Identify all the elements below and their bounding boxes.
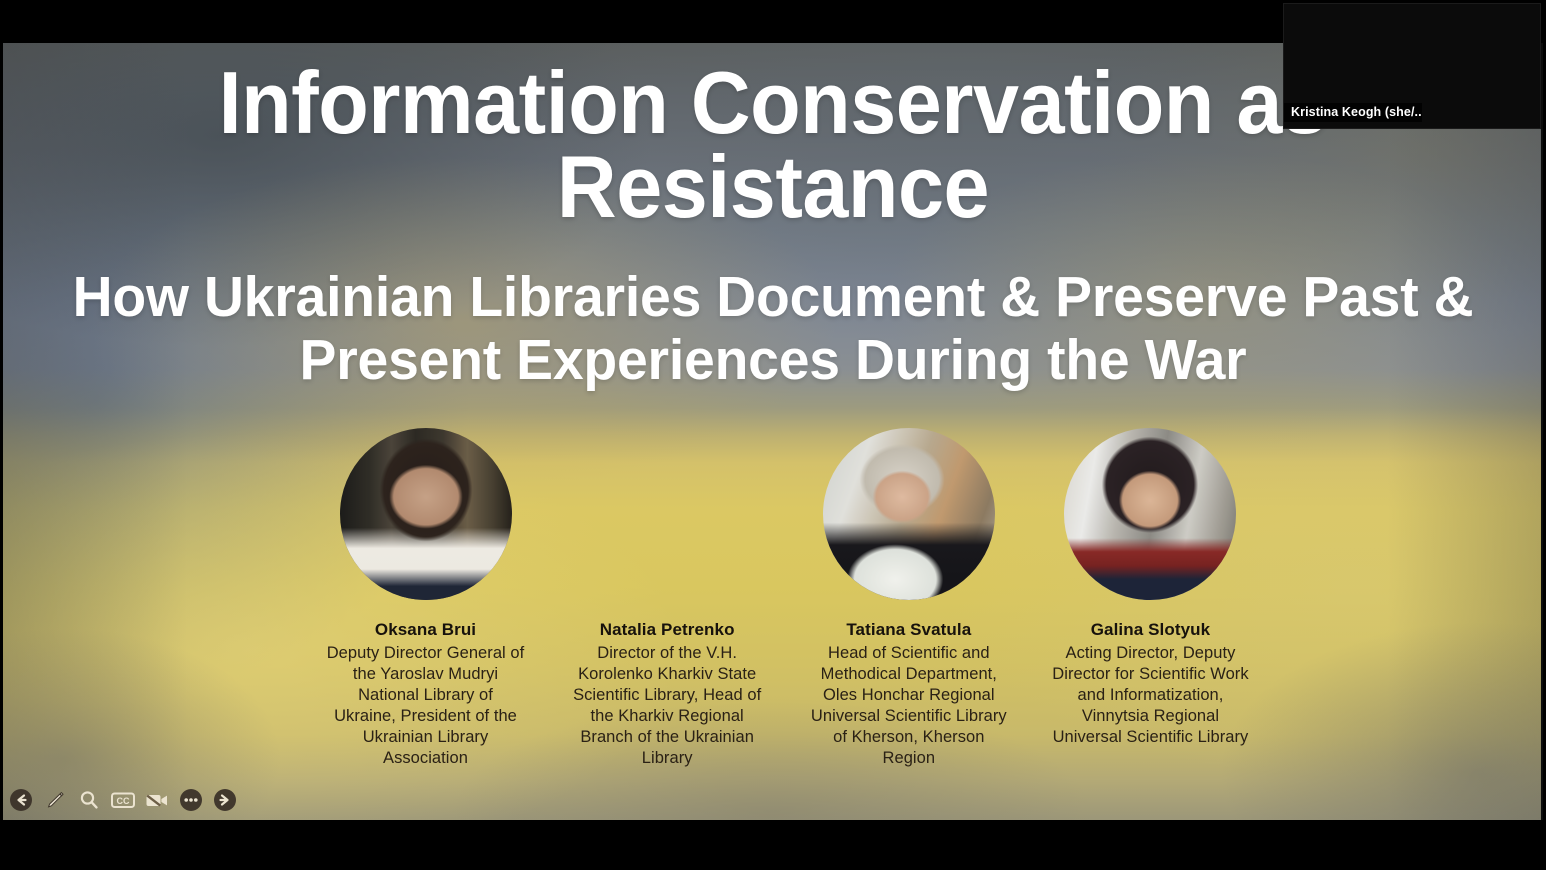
slide-subtitle: How Ukrainian Libraries Document & Prese…	[26, 266, 1520, 391]
speaker-card: Natalia Petrenko Director of the V.H. Ko…	[565, 428, 770, 769]
meeting-stage: Information Conservation as Resistance H…	[0, 0, 1546, 870]
next-slide-arrow-icon[interactable]	[212, 787, 238, 813]
portrait-image	[823, 428, 995, 600]
shared-slide[interactable]: Information Conservation as Resistance H…	[3, 43, 1543, 820]
previous-slide-arrow-icon[interactable]	[8, 787, 34, 813]
portrait-image	[340, 428, 512, 600]
speaker-name: Natalia Petrenko	[600, 620, 735, 640]
svg-text:CC: CC	[117, 796, 130, 806]
pen-annotate-icon[interactable]	[42, 787, 68, 813]
portrait-natalia-petrenko	[581, 428, 753, 600]
portrait-tatiana-svatula	[823, 428, 995, 600]
speaker-bio: Deputy Director General of the Yaroslav …	[326, 643, 526, 769]
speaker-card: Oksana Brui Deputy Director General of t…	[323, 428, 528, 769]
more-options-ellipsis-icon[interactable]	[178, 787, 204, 813]
speaker-name: Tatiana Svatula	[846, 620, 971, 640]
presenter-toolbar[interactable]: CC	[8, 787, 238, 813]
window-bottom-edge	[0, 870, 1546, 878]
speaker-bio: Head of Scientific and Methodical Depart…	[809, 643, 1009, 769]
portrait-image	[581, 428, 753, 600]
speaker-card: Tatiana Svatula Head of Scientific and M…	[806, 428, 1011, 769]
speaker-bio: Acting Director, Deputy Director for Sci…	[1050, 643, 1250, 748]
participant-name-label: Kristina Keogh (she/...	[1284, 103, 1422, 122]
slide-title: Information Conservation as Resistance	[49, 61, 1497, 228]
speaker-bio: Director of the V.H. Korolenko Kharkiv S…	[567, 643, 767, 769]
speakers-row: Oksana Brui Deputy Director General of t…	[323, 428, 1253, 769]
portrait-image	[1064, 428, 1236, 600]
zoom-magnifier-icon[interactable]	[76, 787, 102, 813]
speaker-name: Galina Slotyuk	[1091, 620, 1211, 640]
closed-captions-icon[interactable]: CC	[110, 787, 136, 813]
portrait-oksana-brui	[340, 428, 512, 600]
speaker-card: Galina Slotyuk Acting Director, Deputy D…	[1048, 428, 1253, 769]
speaker-name: Oksana Brui	[375, 620, 476, 640]
portrait-galina-slotyuk	[1064, 428, 1236, 600]
video-off-icon[interactable]	[144, 787, 170, 813]
self-view-video-tile[interactable]: Kristina Keogh (she/...	[1283, 3, 1541, 129]
